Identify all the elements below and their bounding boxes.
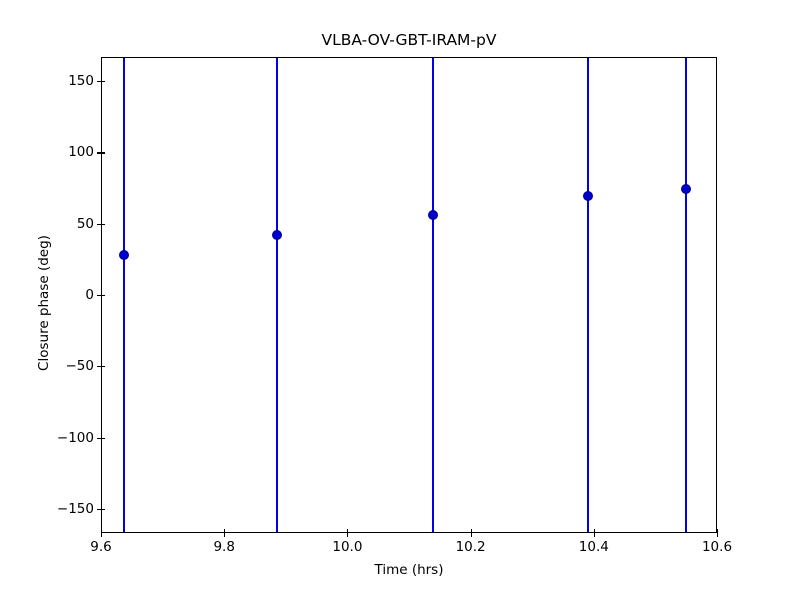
plot-area [101,57,717,533]
x-tick-label: 10.4 [579,539,609,555]
x-tick-mark-inner [101,529,102,533]
y-tick-mark-inner [101,152,105,153]
data-point [583,191,593,201]
x-tick-label: 10.6 [702,539,732,555]
y-tick-label: −50 [66,358,95,374]
x-tick-mark-inner [594,529,595,533]
y-axis-label: Closure phase (deg) [36,163,52,443]
x-tick-label: 10.2 [456,539,486,555]
y-tick-mark-inner [101,295,105,296]
y-tick-mark-inner [101,81,105,82]
x-tick-label: 9.8 [213,539,234,555]
x-tick-mark [101,533,102,537]
x-tick-mark [717,533,718,537]
x-tick-mark-inner [717,529,718,533]
x-tick-mark [594,533,595,537]
x-tick-mark-inner [347,529,348,533]
chart-title: VLBA-OV-GBT-IRAM-pV [101,31,717,49]
y-tick-mark-inner [101,438,105,439]
x-tick-label: 10.0 [332,539,362,555]
data-point [681,184,691,194]
y-tick-label: −150 [57,501,94,517]
error-bar [276,58,278,533]
x-tick-mark-inner [224,529,225,533]
x-axis-label: Time (hrs) [101,562,717,578]
x-tick-label: 9.6 [90,539,111,555]
y-tick-label: 100 [68,144,94,160]
y-tick-label: 0 [85,287,94,303]
error-bar [123,58,125,533]
x-tick-mark [471,533,472,537]
figure-canvas: VLBA-OV-GBT-IRAM-pV 150100500−50−100−150… [0,0,800,600]
y-tick-label: 50 [77,216,94,232]
x-tick-mark-inner [471,529,472,533]
x-tick-mark [347,533,348,537]
y-tick-mark-inner [101,224,105,225]
error-bar [685,58,687,533]
x-tick-mark [224,533,225,537]
error-bar [587,58,589,533]
y-tick-mark-inner [101,366,105,367]
data-point [272,230,282,240]
y-tick-label: −100 [57,430,94,446]
y-tick-mark-inner [101,509,105,510]
error-bar [432,58,434,533]
data-point [428,210,438,220]
y-tick-label: 150 [68,73,94,89]
data-point [119,250,129,260]
